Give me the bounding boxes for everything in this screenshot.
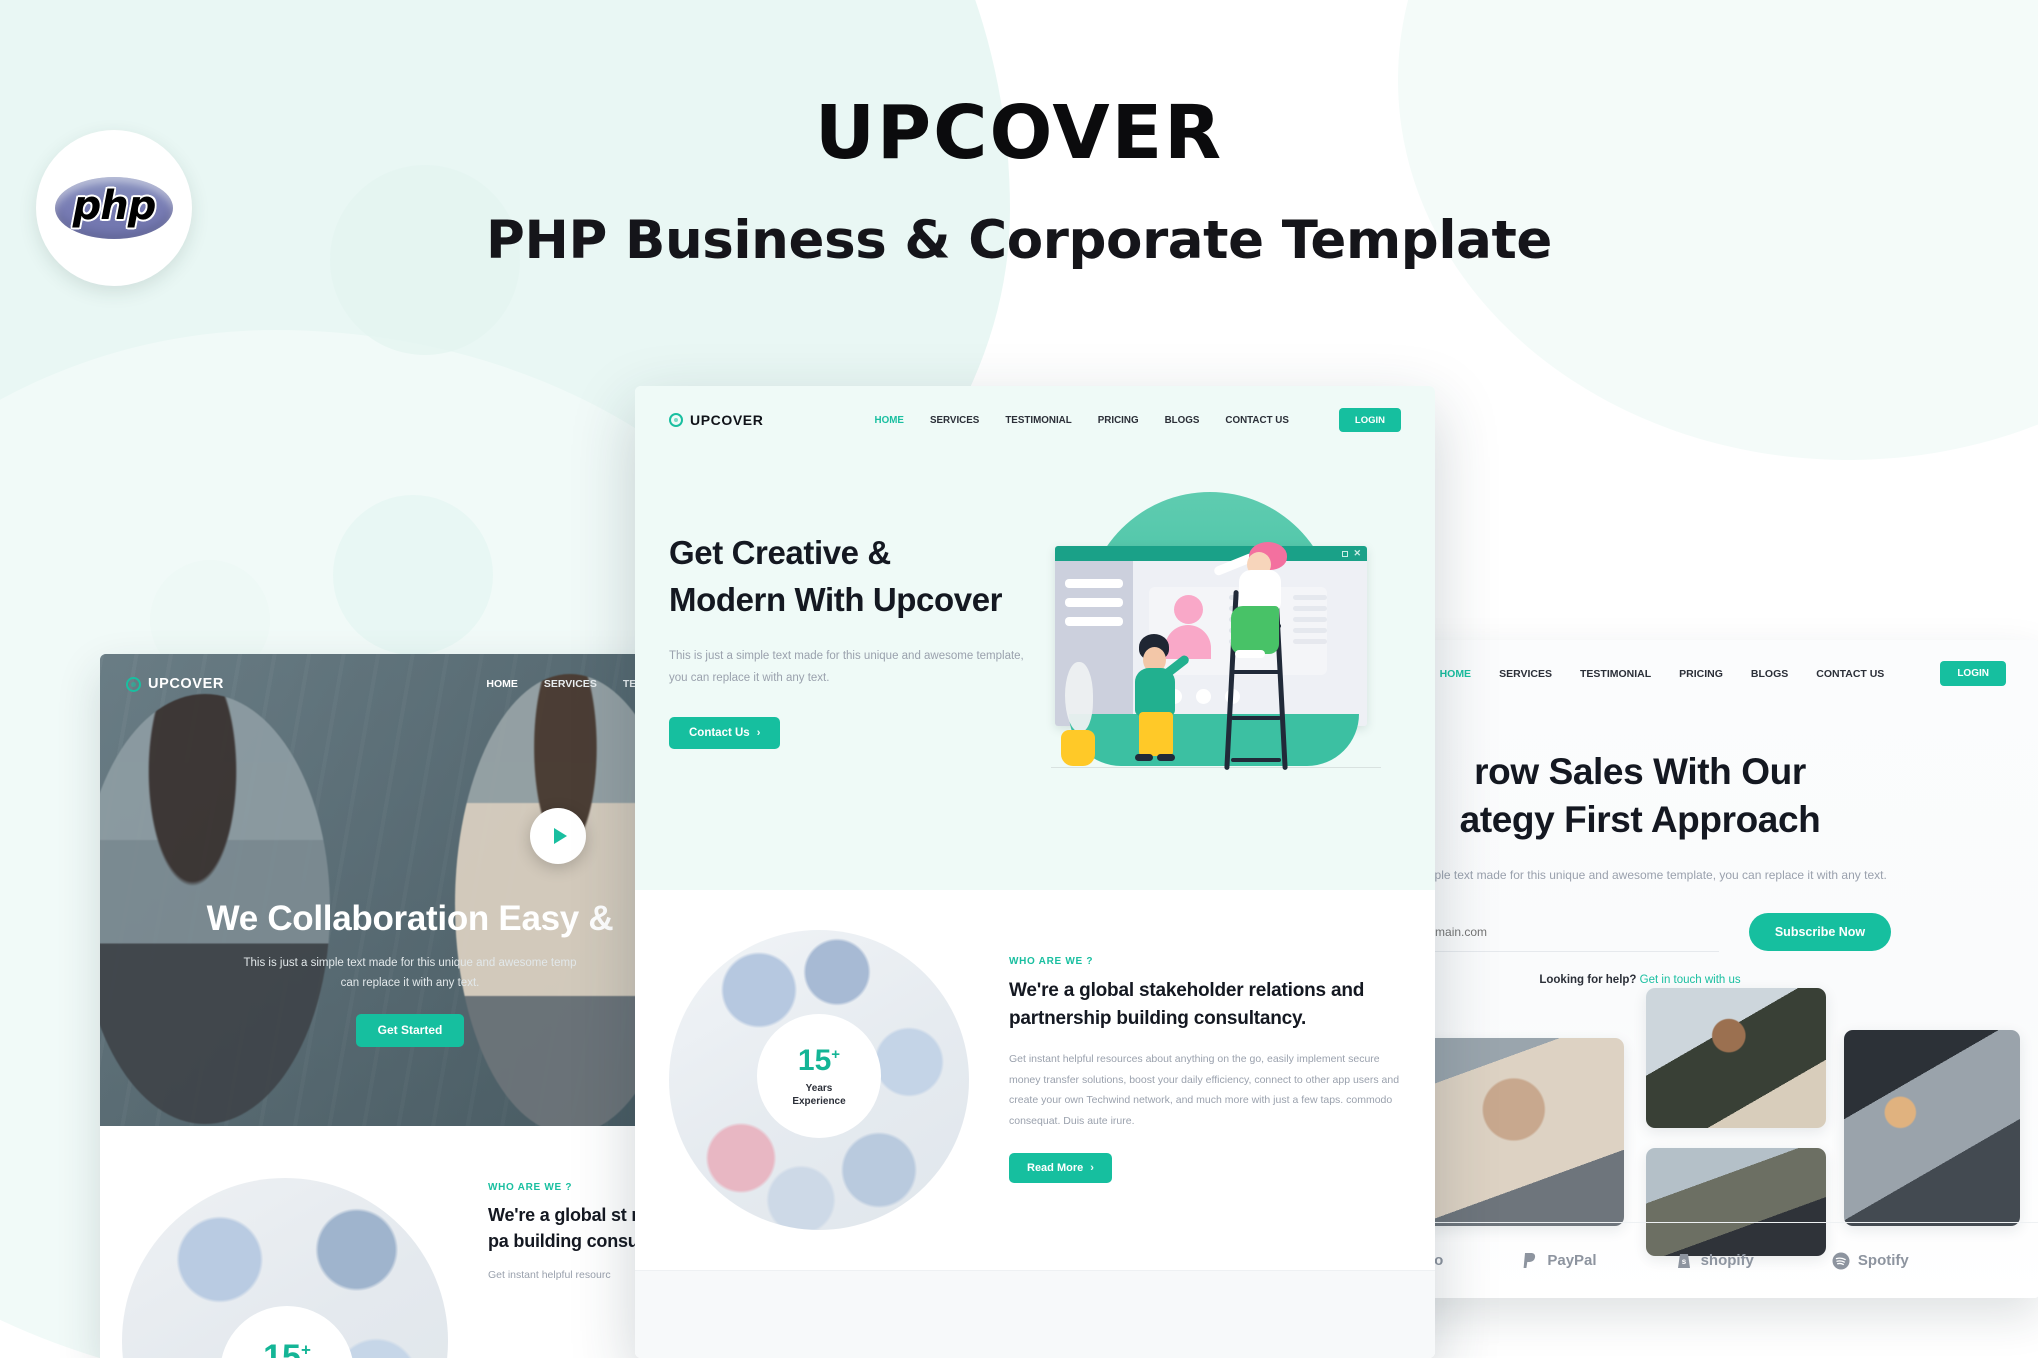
- left-navbar: UPCOVER HOME SERVICES TESTIMONIAL: [100, 654, 720, 714]
- shopify-logo: s shopify: [1675, 1251, 1754, 1270]
- center-badge-number: 15+: [798, 1046, 840, 1076]
- center-navbar: UPCOVER HOME SERVICES TESTIMONIAL PRICIN…: [669, 408, 1401, 432]
- left-badge-plus: +: [301, 1340, 311, 1358]
- nav-item-pricing[interactable]: PRICING: [1098, 415, 1139, 426]
- target-circle-icon: [126, 677, 141, 692]
- center-about-row: 15+ Years Experience WHO ARE WE ? We're …: [669, 930, 1401, 1230]
- left-badge-number: 15+: [263, 1340, 311, 1358]
- nav-item-services[interactable]: SERVICES: [544, 678, 597, 690]
- nav-item-contact-us[interactable]: CONTACT US: [1225, 415, 1289, 426]
- target-circle-icon: [669, 413, 683, 427]
- contact-us-button[interactable]: Contact Us ›: [669, 717, 780, 749]
- spotify-label: Spotify: [1858, 1252, 1909, 1269]
- center-about-paragraph: Get instant helpful resources about anyt…: [1009, 1049, 1401, 1131]
- center-badge-line1: Years: [806, 1083, 833, 1094]
- nav-item-testimonial[interactable]: TESTIMONIAL: [1580, 668, 1651, 680]
- help-prefix: Looking for help?: [1539, 974, 1636, 986]
- illustration-window-body: [1055, 561, 1367, 726]
- center-eyebrow: WHO ARE WE ?: [1009, 956, 1401, 967]
- center-about-heading: We're a global stakeholder relations and…: [1009, 977, 1401, 1033]
- brand-logo-left[interactable]: UPCOVER: [126, 676, 224, 692]
- nav-item-blogs[interactable]: BLOGS: [1165, 415, 1200, 426]
- chevron-right-icon: ›: [757, 727, 761, 739]
- nav-item-testimonial[interactable]: TESTIMONIAL: [1005, 415, 1071, 426]
- illustration-ground: [1069, 714, 1359, 766]
- login-button[interactable]: LOGIN: [1339, 408, 1401, 432]
- center-team-photo-circle: 15+ Years Experience: [669, 930, 969, 1230]
- illustration-sidebar-line: [1065, 579, 1123, 588]
- spotify-logo: Spotify: [1832, 1251, 1909, 1270]
- brand-name-center: UPCOVER: [690, 412, 763, 428]
- nav-item-contact-us[interactable]: CONTACT US: [1816, 668, 1884, 680]
- illustration-person-standing: [1133, 634, 1181, 766]
- center-badge-line2: Experience: [792, 1096, 845, 1107]
- contact-us-label: Contact Us: [689, 727, 750, 739]
- hero-illustration: ✕: [1051, 490, 1381, 790]
- nav-item-home[interactable]: HOME: [875, 415, 904, 426]
- center-hero-copy: Get Creative & Modern With Upcover This …: [669, 508, 1029, 790]
- center-badge-value: 15: [798, 1044, 831, 1077]
- center-hero-row: Get Creative & Modern With Upcover This …: [669, 508, 1401, 790]
- right-headline-line1: row Sales With Our: [1474, 751, 1806, 792]
- chevron-right-icon: ›: [1090, 1162, 1094, 1174]
- left-paragraph: This is just a simple text made for this…: [120, 953, 700, 993]
- illustration-floor-line: [1051, 767, 1381, 768]
- illustration-browser-window: ✕: [1055, 546, 1367, 726]
- paypal-label: PayPal: [1547, 1252, 1596, 1269]
- left-headline: We Collaboration Easy &: [120, 899, 700, 939]
- left-experience-badge: 15+ Years Experience: [220, 1306, 354, 1358]
- gallery-photo-6: [1844, 1030, 2020, 1226]
- left-paragraph-line2: can replace it with any text.: [341, 977, 480, 989]
- get-started-button[interactable]: Get Started: [356, 1014, 465, 1047]
- brand-name-left: UPCOVER: [148, 676, 224, 692]
- nav-item-home[interactable]: HOME: [1440, 668, 1472, 680]
- shopify-label: shopify: [1701, 1252, 1754, 1269]
- center-about-copy: WHO ARE WE ? We're a global stakeholder …: [1009, 930, 1401, 1230]
- center-headline-line1: Get Creative &: [669, 534, 891, 571]
- play-button[interactable]: [530, 808, 586, 864]
- right-headline-line2: ategy First Approach: [1460, 799, 1821, 840]
- maximize-icon: [1342, 551, 1348, 557]
- email-field[interactable]: [1389, 912, 1719, 952]
- illustration-titlebar: ✕: [1055, 546, 1367, 561]
- nav-item-pricing[interactable]: PRICING: [1679, 668, 1723, 680]
- illustration-text-rows-2: [1293, 595, 1327, 650]
- right-nav-links: HOME SERVICES TESTIMONIAL PRICING BLOGS …: [1440, 661, 2006, 686]
- center-hero-section: UPCOVER HOME SERVICES TESTIMONIAL PRICIN…: [635, 386, 1435, 890]
- nav-item-home[interactable]: HOME: [486, 678, 518, 690]
- play-icon: [554, 828, 567, 844]
- nav-item-services[interactable]: SERVICES: [1499, 668, 1552, 680]
- login-button[interactable]: LOGIN: [1940, 661, 2006, 686]
- center-badge-plus: +: [831, 1046, 840, 1063]
- page-subtitle: PHP Business & Corporate Template: [0, 212, 2038, 270]
- hero-title-block: UPCOVER PHP Business & Corporate Templat…: [0, 96, 2038, 270]
- illustration-vase: [1061, 730, 1095, 766]
- center-footer-strip: [635, 1270, 1435, 1358]
- illustration-sidebar-line: [1065, 598, 1123, 607]
- illustration-person-on-ladder: [1215, 542, 1295, 662]
- read-more-button[interactable]: Read More ›: [1009, 1153, 1112, 1183]
- paypal-icon: [1521, 1251, 1540, 1270]
- mockup-left-screen[interactable]: UPCOVER HOME SERVICES TESTIMONIAL We Col…: [100, 654, 720, 1358]
- nav-item-services[interactable]: SERVICES: [930, 415, 979, 426]
- left-team-photo-circle: 15+ Years Experience: [122, 1178, 448, 1358]
- get-in-touch-link[interactable]: Get in touch with us: [1640, 974, 1741, 986]
- gallery-photo-4: [1646, 988, 1826, 1128]
- close-icon: ✕: [1353, 549, 1361, 558]
- left-paragraph-line1: This is just a simple text made for this…: [243, 957, 576, 969]
- center-headline: Get Creative & Modern With Upcover: [669, 530, 1029, 624]
- svg-text:s: s: [1682, 1257, 1687, 1266]
- nav-item-blogs[interactable]: BLOGS: [1751, 668, 1788, 680]
- left-hero-copy: We Collaboration Easy & This is just a s…: [100, 899, 720, 1047]
- read-more-label: Read More: [1027, 1162, 1083, 1174]
- illustration-sidebar-line: [1065, 617, 1123, 626]
- left-about-section: 15+ Years Experience WHO ARE WE ? We're …: [100, 1126, 720, 1358]
- illustration-plant: [1065, 662, 1093, 732]
- spotify-icon: [1832, 1251, 1851, 1270]
- page-title: UPCOVER: [0, 96, 2038, 170]
- center-paragraph: This is just a simple text made for this…: [669, 646, 1029, 690]
- center-nav-links: HOME SERVICES TESTIMONIAL PRICING BLOGS …: [875, 408, 1401, 432]
- subscribe-now-button[interactable]: Subscribe Now: [1749, 913, 1891, 951]
- left-hero-section: UPCOVER HOME SERVICES TESTIMONIAL We Col…: [100, 654, 720, 1126]
- brand-logo-center[interactable]: UPCOVER: [669, 412, 763, 428]
- shopify-icon: s: [1675, 1251, 1694, 1270]
- left-badge-value: 15: [263, 1338, 301, 1358]
- center-headline-line2: Modern With Upcover: [669, 581, 1002, 618]
- center-experience-badge: 15+ Years Experience: [757, 1014, 881, 1138]
- decor-circle-b: [333, 495, 493, 655]
- mockup-center-screen[interactable]: UPCOVER HOME SERVICES TESTIMONIAL PRICIN…: [635, 386, 1435, 1358]
- paypal-logo: PayPal: [1521, 1251, 1596, 1270]
